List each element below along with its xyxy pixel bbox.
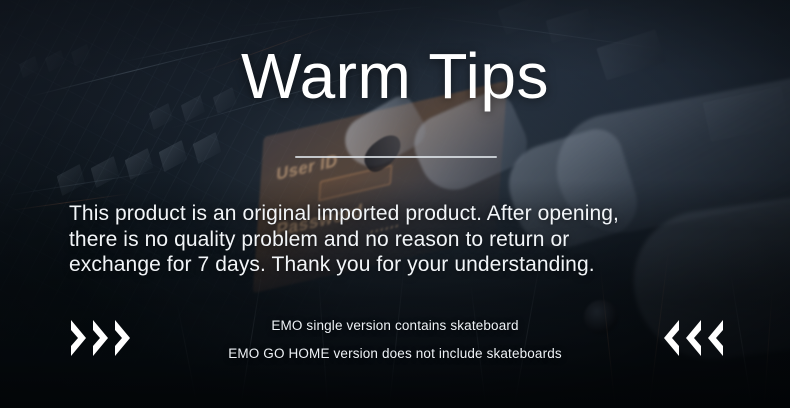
chevron-left-icon [683, 318, 702, 358]
body-paragraph: This product is an original imported pro… [69, 201, 721, 278]
left-chevron-group [70, 318, 133, 358]
page-title: Warm Tips [0, 44, 790, 108]
chevron-right-icon [70, 318, 89, 358]
warm-tips-banner: User ID Password •••••• Warm Tips This p… [0, 0, 790, 408]
title-divider [295, 156, 497, 158]
chevron-left-icon [705, 318, 724, 358]
body-line-2: there is no quality problem and no reaso… [69, 227, 721, 253]
chevron-right-icon [92, 318, 111, 358]
body-line-3: exchange for 7 days. Thank you for your … [69, 252, 721, 278]
chevron-right-icon [114, 318, 133, 358]
body-line-1: This product is an original imported pro… [69, 201, 721, 227]
chevron-left-icon [661, 318, 680, 358]
right-chevron-group [661, 318, 724, 358]
